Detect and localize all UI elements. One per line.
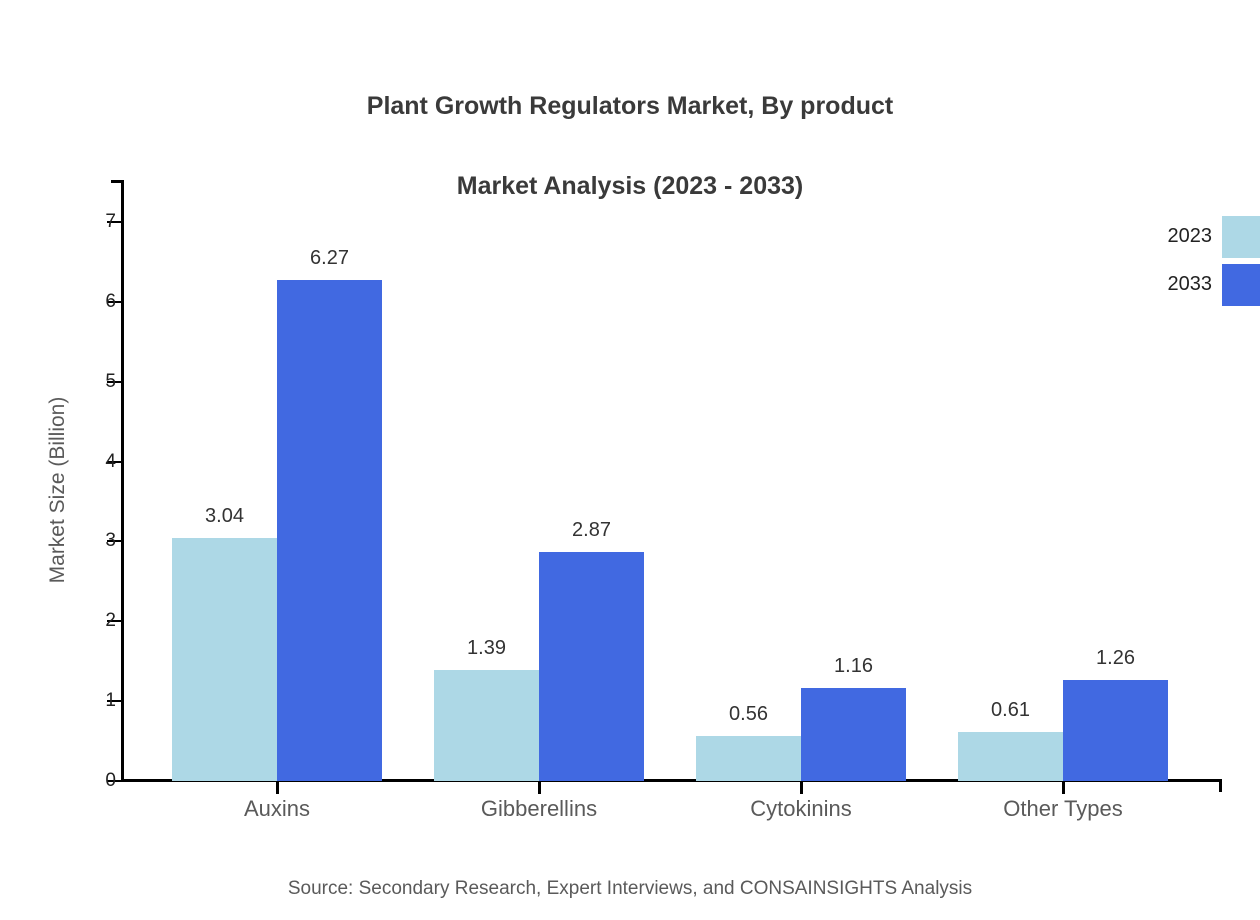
x-axis-tick-cytokinins [800,781,803,794]
legend-label-2033: 2033 [1130,273,1212,295]
x-axis-tick-auxins [276,781,279,794]
y-axis-tick-label-1: 1 [76,691,116,710]
y-axis-tick-label-2: 2 [76,611,116,630]
chart-title-line-2: Market Analysis (2023 - 2033) [0,166,1260,206]
bar-value-label-other-types-2033: 1.26 [1056,648,1176,668]
x-axis-label-other-types: Other Types [943,794,1183,824]
bar-auxins-2033[interactable] [277,280,382,781]
y-axis-top-cap [111,180,124,183]
y-axis-title: Market Size (Billion) [46,280,70,700]
bar-cytokinins-2033[interactable] [801,688,906,781]
bar-value-label-other-types-2023: 0.61 [951,700,1071,720]
chart-title-line-1: Plant Growth Regulators Market, By produ… [0,86,1260,126]
y-axis-tick-label-5: 5 [76,372,116,391]
legend-swatch-2033 [1222,264,1260,306]
x-axis-label-auxins: Auxins [157,794,397,824]
chart-title: Plant Growth Regulators Market, By produ… [0,46,1260,246]
y-axis-tick-label-4: 4 [76,452,116,471]
bar-value-label-auxins-2033: 6.27 [270,248,390,268]
x-axis-right-cap [1219,779,1222,792]
bar-auxins-2023[interactable] [172,538,277,781]
y-axis-line [121,180,124,782]
legend-swatch-2023 [1222,216,1260,258]
x-axis-tick-other-types [1062,781,1065,794]
bar-value-label-cytokinins-2033: 1.16 [794,656,914,676]
y-axis-tick-label-3: 3 [76,531,116,550]
y-axis-tick-label-7: 7 [76,212,116,231]
legend-label-2023: 2023 [1130,225,1212,247]
source-note: Source: Secondary Research, Expert Inter… [0,878,1260,900]
bar-gibberellins-2033[interactable] [539,552,644,781]
bar-value-label-gibberellins-2023: 1.39 [427,638,547,658]
bar-value-label-gibberellins-2033: 2.87 [532,520,652,540]
bar-other-types-2023[interactable] [958,732,1063,781]
bar-other-types-2033[interactable] [1063,680,1168,781]
bar-gibberellins-2023[interactable] [434,670,539,781]
y-axis-tick-label-0: 0 [76,771,116,790]
x-axis-label-gibberellins: Gibberellins [419,794,659,824]
bar-value-label-cytokinins-2023: 0.56 [689,704,809,724]
x-axis-tick-gibberellins [538,781,541,794]
bar-value-label-auxins-2023: 3.04 [165,506,285,526]
y-axis-tick-label-6: 6 [76,292,116,311]
x-axis-label-cytokinins: Cytokinins [681,794,921,824]
bar-cytokinins-2023[interactable] [696,736,801,781]
